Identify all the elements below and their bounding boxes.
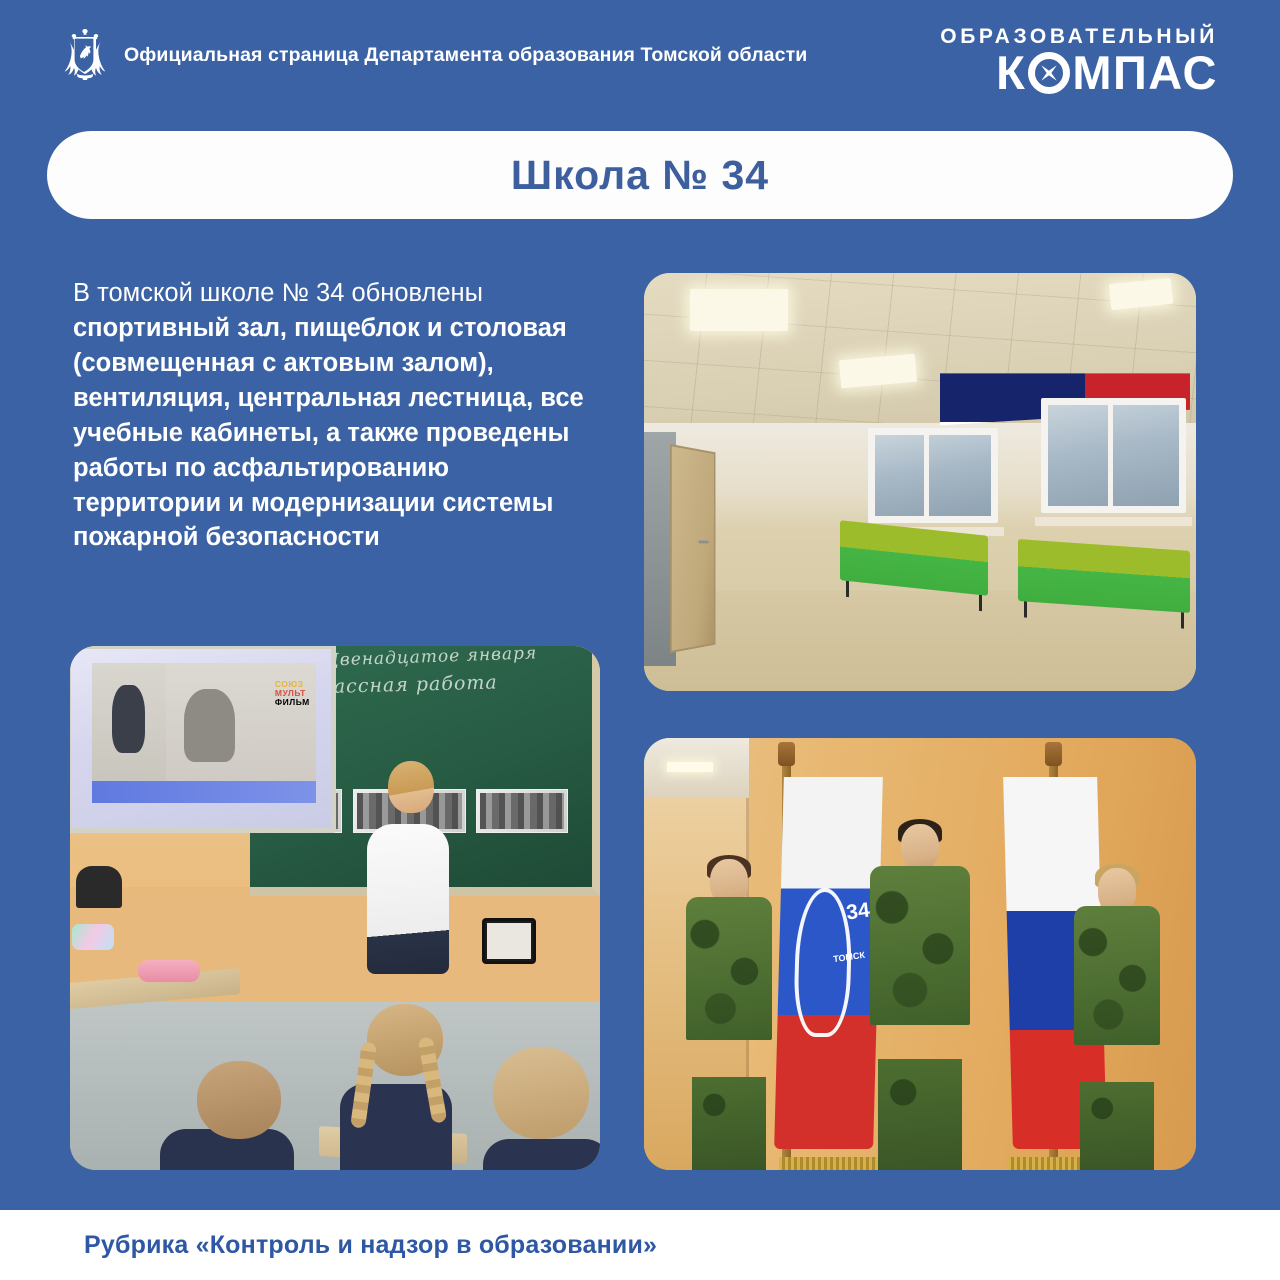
title-banner: Школа № 34 [47, 131, 1233, 219]
brand-bottom-pre: К [996, 49, 1026, 97]
classroom-teacher-head [388, 761, 434, 813]
cadet-center [868, 824, 972, 1170]
hall-green-bench [1018, 539, 1190, 613]
compass-rose-icon [1028, 52, 1070, 94]
cadet-uniform-trousers [1080, 1082, 1154, 1170]
whiteboard-progress-bar [92, 781, 316, 802]
photo-classroom-lesson: Двенадцатое января Классная работа Яя СО… [70, 646, 600, 1170]
cadet-uniform-trousers [692, 1077, 766, 1170]
hall-window [1041, 398, 1186, 513]
hall-window [868, 428, 998, 523]
chalkboard-photo-card [476, 789, 568, 833]
brand-bottom-word: К МПАС [940, 49, 1218, 97]
hall-ceiling-lamp [690, 289, 788, 331]
cadet-uniform-jacket [686, 897, 772, 1040]
cadet-right [1071, 868, 1163, 1170]
window-mullion [1108, 405, 1113, 506]
photo-cadets-with-flags: 34 ТОМСК [644, 738, 1196, 1170]
whiteboard-video-frame: СОЮЗ МУЛЬТ ФИЛЬМ [92, 663, 316, 781]
chalkboard-date: Двенадцатое января [325, 646, 538, 671]
hall-window-sill [1035, 517, 1192, 526]
studio-logo-line-3: ФИЛЬМ [275, 697, 310, 707]
body-strong-text: спортивный зал, пищеблок и столовая (сов… [73, 314, 584, 552]
whiteboard-video-left-pane [92, 663, 166, 781]
classroom-student-head [197, 1061, 281, 1139]
classroom-pencil-pouch [72, 924, 114, 950]
classroom-teacher-body [367, 824, 449, 974]
header-left-group: Официальная страница Департамента образо… [60, 26, 807, 84]
cadet-left [683, 859, 775, 1170]
brand-top-word: ОБРАЗОВАТЕЛЬНЫЙ [940, 26, 1218, 47]
body-paragraph: В томской школе № 34 обновлены спортивны… [73, 276, 603, 555]
cadet-uniform-trousers [878, 1059, 962, 1170]
page-title: Школа № 34 [511, 152, 769, 199]
footer-rubric-text: Рубрика «Контроль и надзор в образовании… [84, 1231, 657, 1260]
window-mullion [924, 435, 929, 516]
brand-bottom-post: МПАС [1072, 49, 1218, 97]
whiteboard-studio-logo: СОЮЗ МУЛЬТ ФИЛЬМ [275, 680, 310, 708]
hall-door [670, 444, 715, 653]
brand-logo: ОБРАЗОВАТЕЛЬНЫЙ К МПАС [940, 26, 1218, 97]
photo-school-hall [644, 273, 1196, 691]
classroom-student-head [493, 1047, 589, 1139]
cadet-uniform-jacket [870, 866, 970, 1025]
page-footer: Рубрика «Контроль и надзор в образовании… [0, 1210, 1280, 1280]
classroom-tablet [482, 918, 536, 964]
header-org-title: Официальная страница Департамента образо… [124, 44, 807, 67]
whiteboard-video-right-pane: СОЮЗ МУЛЬТ ФИЛЬМ [166, 663, 316, 781]
cadets-ceiling-light [644, 738, 749, 798]
page-header: Официальная страница Департамента образо… [0, 0, 1280, 110]
cadet-head [901, 824, 939, 870]
classroom-pencil-case [138, 960, 200, 982]
classroom-student [483, 1139, 600, 1170]
cadet-uniform-jacket [1074, 906, 1160, 1045]
flag-fringe [779, 1157, 878, 1170]
classroom-interactive-whiteboard: СОЮЗ МУЛЬТ ФИЛЬМ [70, 646, 336, 833]
tomsk-oblast-coat-of-arms-icon [60, 26, 110, 84]
classroom-chair [76, 866, 122, 908]
body-lead-text: В томской школе № 34 обновлены [73, 279, 483, 307]
